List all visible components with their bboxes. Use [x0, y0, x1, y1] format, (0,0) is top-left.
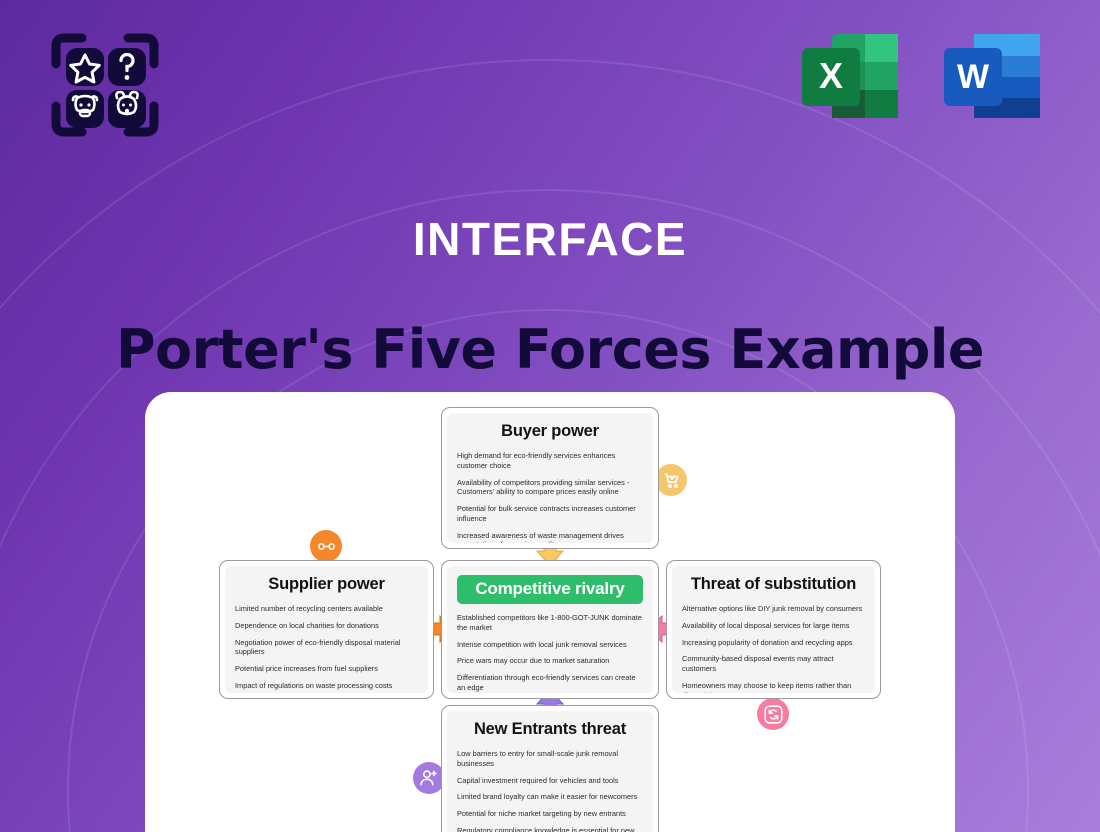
force-title-competitive-rivalry: Competitive rivalry [457, 575, 643, 604]
list-item: Alternative options like DIY junk remova… [682, 604, 865, 614]
force-box-supplier-power[interactable]: Supplier power Limited number of recycli… [219, 560, 434, 699]
force-box-inner: New Entrants threat Low barriers to entr… [447, 711, 653, 832]
list-item: Low barriers to entry for small-scale ju… [457, 749, 643, 769]
list-item: Community-based disposal events may attr… [682, 654, 865, 674]
force-list-threat-of-substitution: Alternative options like DIY junk remova… [682, 604, 865, 693]
force-title-threat-of-substitution: Threat of substitution [682, 575, 865, 594]
force-box-buyer-power[interactable]: Buyer power High demand for eco-friendly… [441, 407, 659, 549]
force-box-inner: Buyer power High demand for eco-friendly… [447, 413, 653, 543]
list-item: Regulatory compliance knowledge is essen… [457, 826, 643, 832]
sync-icon[interactable] [757, 698, 789, 730]
list-item: Potential for niche market targeting by … [457, 809, 643, 819]
list-item: Limited brand loyalty can make it easier… [457, 792, 643, 802]
list-item: Dependence on local charities for donati… [235, 621, 418, 631]
force-title-new-entrants-threat: New Entrants threat [457, 720, 643, 739]
list-item: Availability of competitors providing si… [457, 478, 643, 498]
force-box-competitive-rivalry[interactable]: Competitive rivalry Established competit… [441, 560, 659, 699]
force-box-inner: Threat of substitution Alternative optio… [672, 566, 875, 693]
list-item: Availability of local disposal services … [682, 621, 865, 631]
list-item: Increasing popularity of donation and re… [682, 638, 865, 648]
list-item: Limited number of recycling centers avai… [235, 604, 418, 614]
force-title-supplier-power: Supplier power [235, 575, 418, 594]
list-item: Increased awareness of waste management … [457, 531, 643, 543]
force-list-competitive-rivalry: Established competitors like 1-800-GOT-J… [457, 613, 643, 693]
list-item: Price wars may occur due to market satur… [457, 656, 643, 666]
list-item: Potential for bulk service contracts inc… [457, 504, 643, 524]
shopping-cart-icon[interactable] [655, 464, 687, 496]
list-item: Negotiation power of eco-friendly dispos… [235, 638, 418, 658]
list-item: Intense competition with local junk remo… [457, 640, 643, 650]
list-item: Capital investment required for vehicles… [457, 776, 643, 786]
force-box-inner: Competitive rivalry Established competit… [447, 566, 653, 693]
list-item: Homeowners may choose to keep items rath… [682, 681, 865, 693]
slide-canvas: X W INTERFACE Porter's Five Forces Examp… [0, 0, 1100, 832]
link-icon[interactable] [310, 530, 342, 562]
force-box-inner: Supplier power Limited number of recycli… [225, 566, 428, 693]
force-list-new-entrants-threat: Low barriers to entry for small-scale ju… [457, 749, 643, 832]
force-list-supplier-power: Limited number of recycling centers avai… [235, 604, 418, 691]
list-item: Differentiation through eco-friendly ser… [457, 673, 643, 693]
list-item: High demand for eco-friendly services en… [457, 451, 643, 471]
force-title-buyer-power: Buyer power [457, 422, 643, 441]
list-item: Impact of regulations on waste processin… [235, 681, 418, 691]
force-box-threat-of-substitution[interactable]: Threat of substitution Alternative optio… [666, 560, 881, 699]
force-list-buyer-power: High demand for eco-friendly services en… [457, 451, 643, 543]
porters-five-forces-diagram: Buyer power High demand for eco-friendly… [0, 0, 1100, 832]
list-item: Established competitors like 1-800-GOT-J… [457, 613, 643, 633]
list-item: Potential price increases from fuel supp… [235, 664, 418, 674]
force-box-new-entrants-threat[interactable]: New Entrants threat Low barriers to entr… [441, 705, 659, 832]
